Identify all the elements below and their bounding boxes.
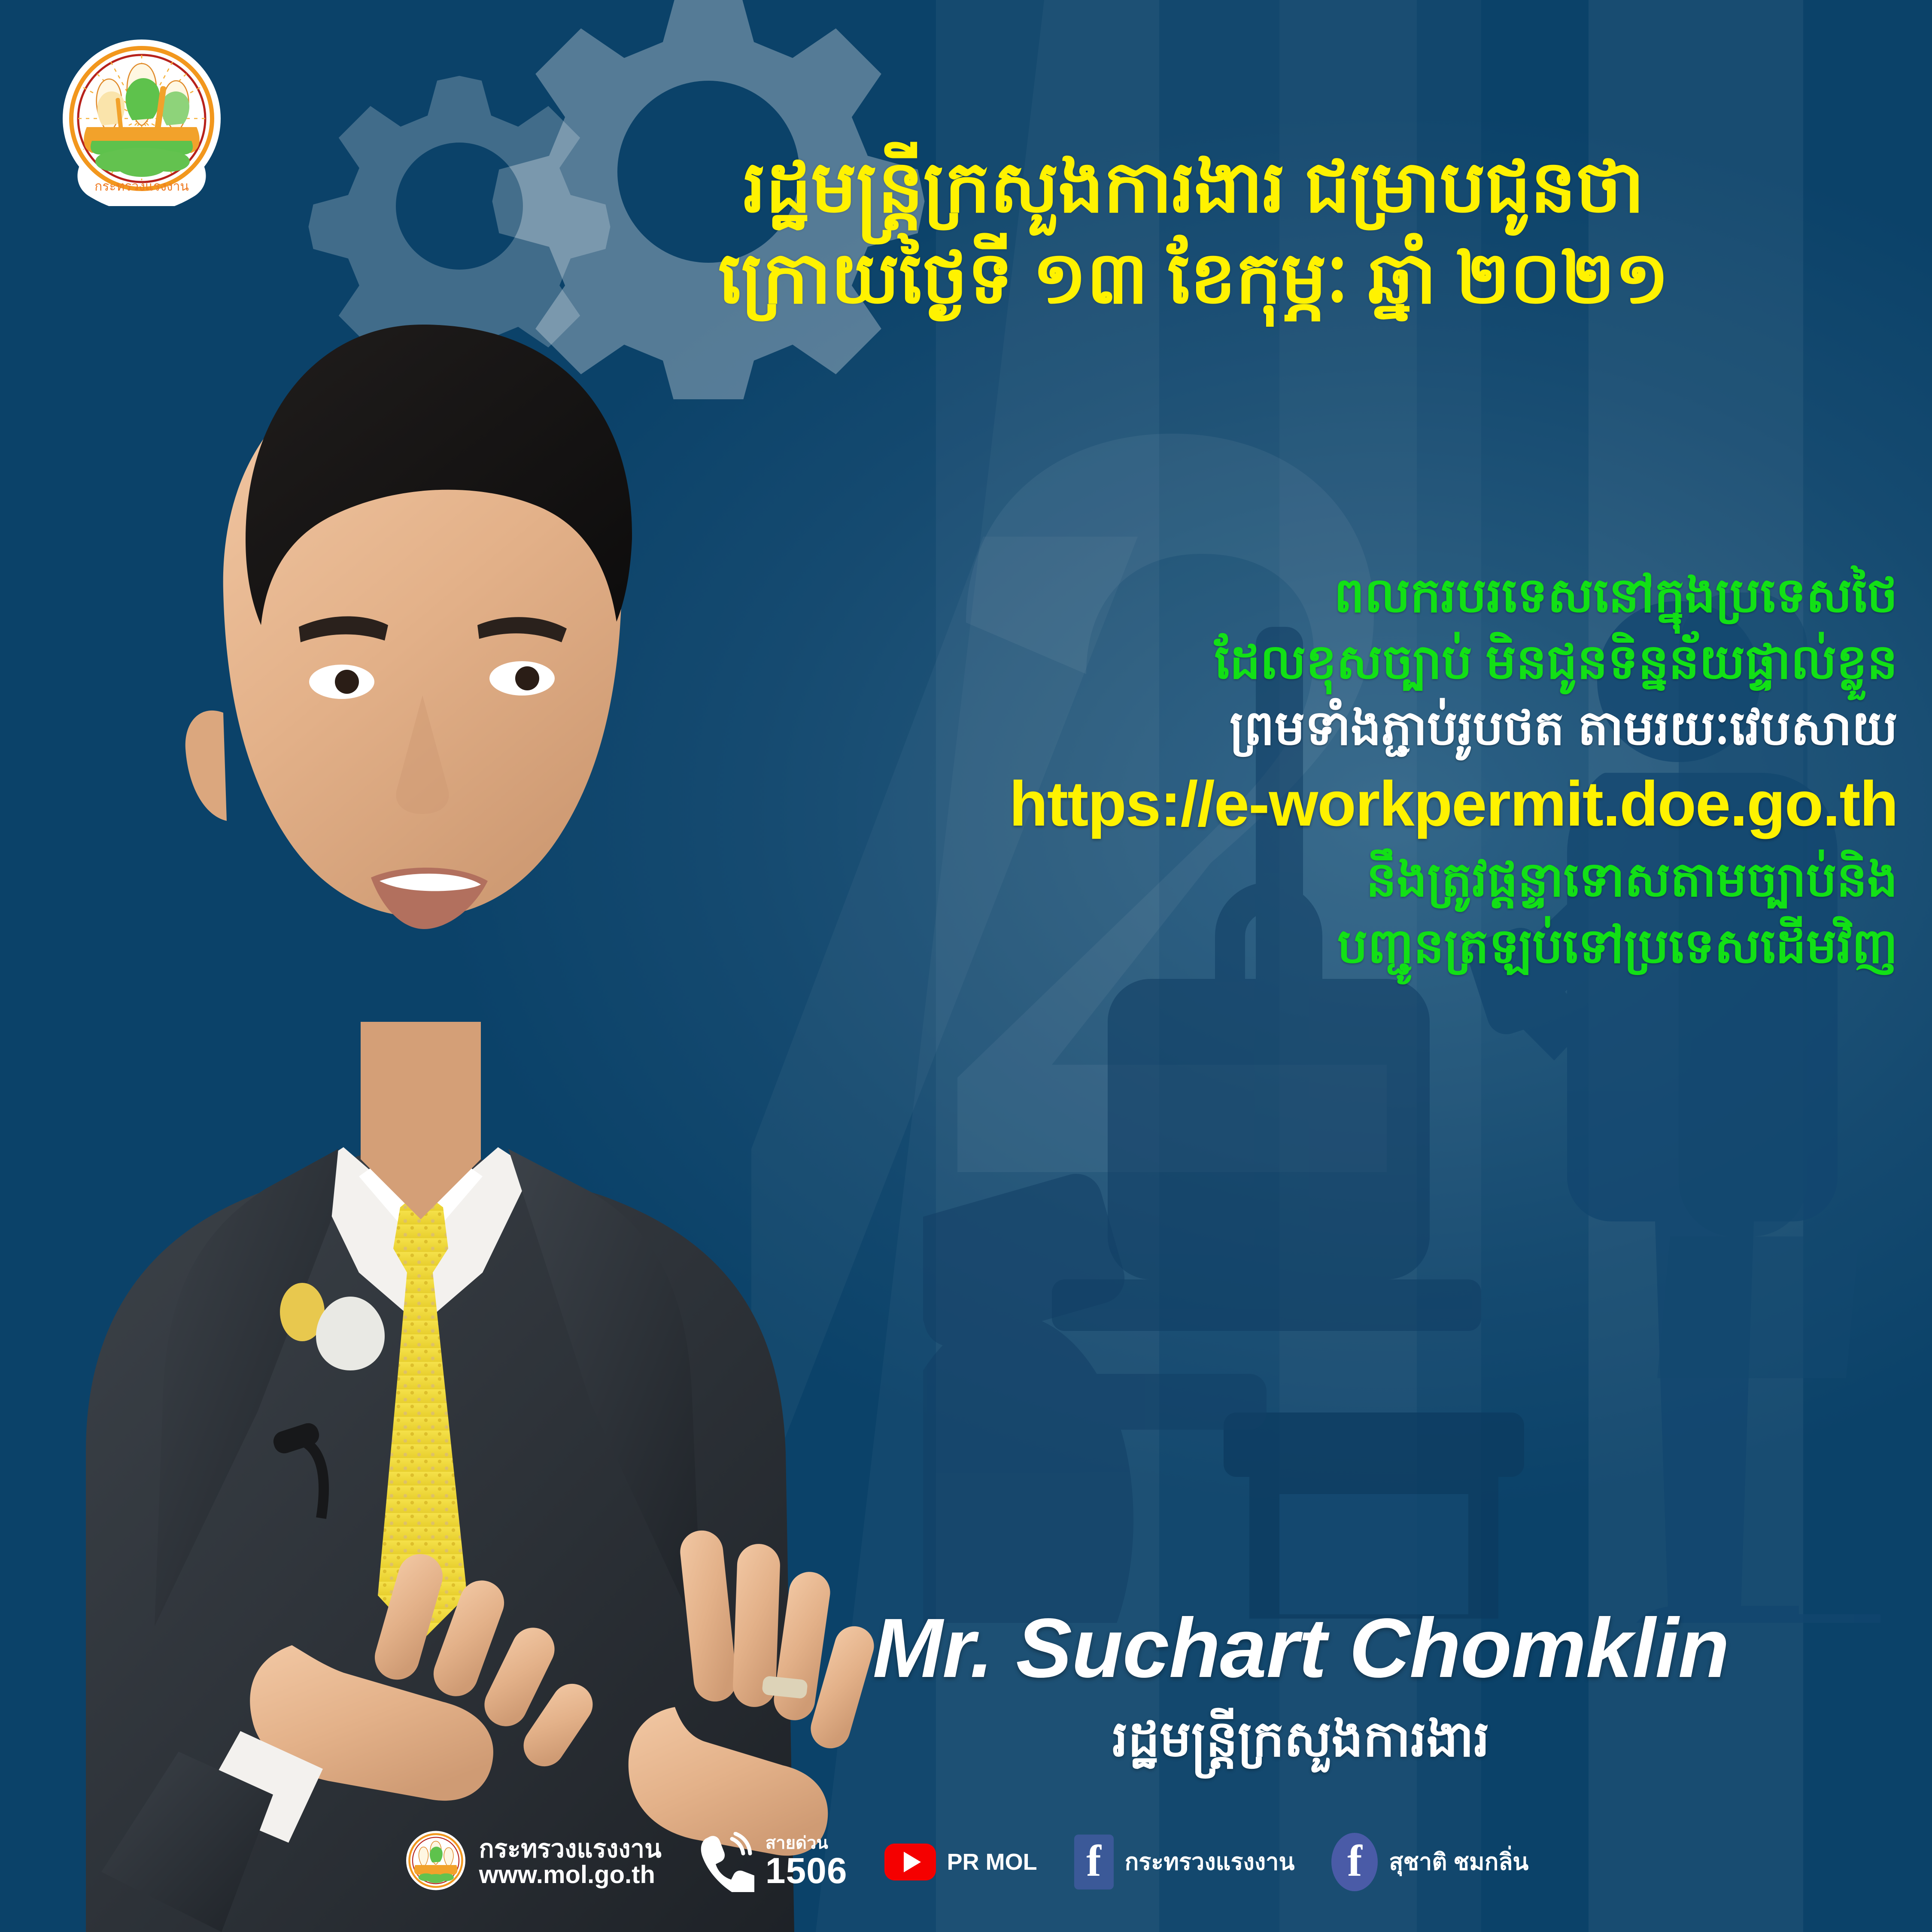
footer-facebook-person[interactable]: สุชาติ ชมกลิ่น bbox=[1331, 1833, 1528, 1891]
footer-facebook-person-label: สุชาติ ชมกลิ่น bbox=[1389, 1850, 1528, 1874]
body-line-1: ពលករបរទេសនៅក្នុងប្រទេសថៃ bbox=[558, 562, 1898, 629]
footer-hotline-number: 1506 bbox=[766, 1852, 848, 1889]
footer-bar: กระทรวงแรงงาน www.mol.go.th สายด่วน 1506 bbox=[0, 1803, 1932, 1932]
speaker-name-block: Mr. Suchart Chomklin រដ្ឋមន្ត្រីក្រសួងកា… bbox=[721, 1606, 1880, 1769]
footer-ministry-line-1: กระทรวงแรงงาน bbox=[479, 1836, 662, 1862]
facebook-square-icon bbox=[1074, 1835, 1114, 1889]
svg-text:กระทรวงแรงงาน: กระทรวงแรงงาน bbox=[94, 179, 189, 194]
body-line-3: ព្រមទាំងភ្ជាប់រូបថត តាមរយៈវេបសាយ bbox=[558, 695, 1898, 762]
headline-line-2: ក្រោយថ្ងៃទី ១៣ ខែកុម្ភៈ ឆ្នាំ ២០២១ bbox=[485, 233, 1902, 324]
body-text-block: ពលករបរទេសនៅក្នុងប្រទេសថៃ ដែលខុសច្បាប់ មិ… bbox=[558, 562, 1898, 979]
body-line-4: នឹងត្រូវផ្តន្ទាទោសតាមច្បាប់និង bbox=[558, 847, 1898, 913]
body-line-5: បញ្ជូនត្រឡប់ទៅប្រទេសដើមវិញ bbox=[558, 913, 1898, 980]
ministry-emblem: กระทรวงแรงงาน bbox=[56, 34, 228, 206]
speaker-title: រដ្ឋមន្ត្រីក្រសួងការងារ bbox=[721, 1709, 1880, 1769]
footer-ministry-text: กระทรวงแรงงาน www.mol.go.th bbox=[479, 1836, 662, 1888]
thai-ministry-of-labour-emblem-icon bbox=[404, 1829, 468, 1896]
footer-ministry[interactable]: กระทรวงแรงงาน www.mol.go.th bbox=[404, 1829, 662, 1896]
footer-youtube-label: PR MOL bbox=[947, 1850, 1037, 1874]
page-title: រដ្ឋមន្ត្រីក្រសួងការងារ ជម្រាបជូនថា ក្រោ… bbox=[485, 142, 1902, 323]
footer-facebook-page[interactable]: กระทรวงแรงงาน bbox=[1074, 1835, 1295, 1889]
footer-hotline-label: สายด่วน bbox=[766, 1835, 848, 1853]
youtube-play-icon bbox=[884, 1844, 936, 1880]
footer-hotline-text: สายด่วน 1506 bbox=[766, 1835, 848, 1890]
speaker-name: Mr. Suchart Chomklin bbox=[721, 1606, 1880, 1690]
footer-facebook-page-label: กระทรวงแรงงาน bbox=[1125, 1850, 1295, 1874]
facebook-circle-icon bbox=[1331, 1833, 1378, 1891]
footer-youtube[interactable]: PR MOL bbox=[884, 1844, 1037, 1880]
body-line-2: ដែលខុសច្បាប់ មិនជូនទិន្នន័យផ្ទាល់ខ្លួន bbox=[558, 629, 1898, 696]
poster-canvas: กระทรวงแรงงาน រដ្ឋមន្ត្រីក្រសួងការងារ ជម… bbox=[0, 0, 1932, 1932]
workpermit-url-link[interactable]: https://e-workpermit.doe.go.th bbox=[558, 762, 1898, 847]
headline-line-1: រដ្ឋមន្ត្រីក្រសួងការងារ ជម្រាបជូនថា bbox=[485, 142, 1902, 233]
phone-ringing-icon bbox=[699, 1832, 754, 1892]
footer-ministry-line-2: www.mol.go.th bbox=[479, 1862, 662, 1888]
footer-hotline[interactable]: สายด่วน 1506 bbox=[699, 1832, 848, 1892]
